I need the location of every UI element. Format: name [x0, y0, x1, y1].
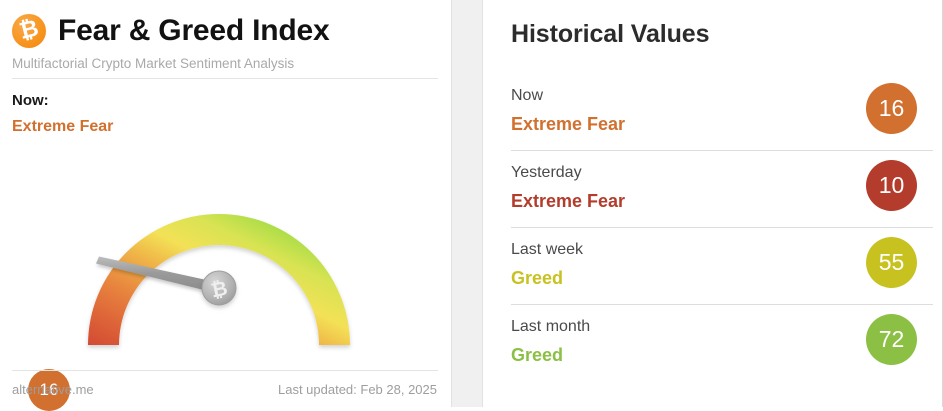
- now-label: Now:: [12, 92, 49, 109]
- last-updated: Last updated: Feb 28, 2025: [278, 382, 437, 397]
- row-value: 10: [879, 172, 905, 199]
- status-badge: 72: [866, 314, 917, 365]
- footer-divider: [12, 370, 438, 371]
- header-divider: [12, 78, 438, 79]
- card-footer: alternative.me Last updated: Feb 28, 202…: [12, 382, 437, 397]
- status-badge: 16: [866, 83, 917, 134]
- source-link[interactable]: alternative.me: [12, 382, 94, 397]
- historical-title: Historical Values: [511, 20, 709, 49]
- list-item[interactable]: Last month Greed 72: [511, 305, 933, 382]
- gauge: ₿ 16: [0, 140, 452, 365]
- status-badge: 10: [866, 160, 917, 211]
- historical-list: Now Extreme Fear 16 Yesterday Extreme Fe…: [511, 74, 933, 382]
- bitcoin-glyph: ₿: [17, 17, 41, 44]
- row-value: 16: [879, 95, 905, 122]
- card-gap: [452, 0, 482, 407]
- page-subtitle: Multifactorial Crypto Market Sentiment A…: [12, 56, 294, 71]
- status-badge: 55: [866, 237, 917, 288]
- index-card: ₿ Fear & Greed Index Multifactorial Cryp…: [0, 0, 452, 407]
- list-item[interactable]: Last week Greed 55: [511, 228, 933, 305]
- historical-values-card: Historical Values Now Extreme Fear 16 Ye…: [482, 0, 943, 407]
- page-title: Fear & Greed Index: [58, 14, 330, 48]
- now-sentiment: Extreme Fear: [12, 118, 113, 136]
- list-item[interactable]: Yesterday Extreme Fear 10: [511, 151, 933, 228]
- card-header: ₿ Fear & Greed Index: [12, 14, 439, 48]
- list-item[interactable]: Now Extreme Fear 16: [511, 74, 933, 151]
- fear-greed-widget: ₿ Fear & Greed Index Multifactorial Cryp…: [0, 0, 943, 407]
- bitcoin-icon: ₿: [12, 14, 46, 48]
- row-value: 55: [879, 249, 905, 276]
- gauge-svg: ₿: [0, 140, 452, 365]
- row-value: 72: [879, 326, 905, 353]
